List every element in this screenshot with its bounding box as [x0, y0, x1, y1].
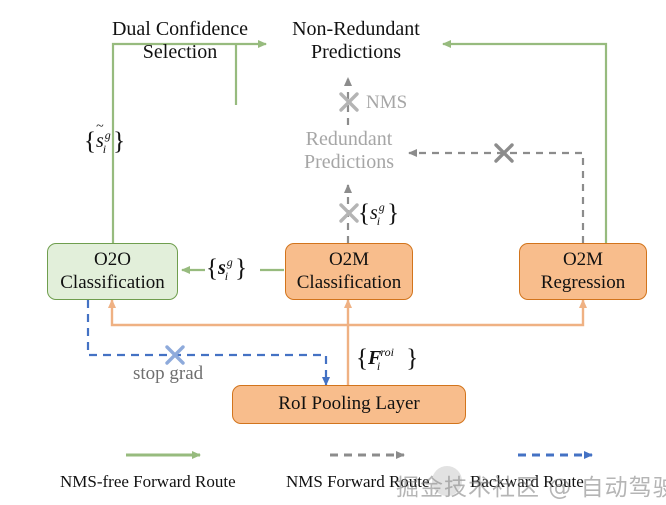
node-line1: O2M [329, 249, 369, 271]
math-sup-g: g [105, 128, 111, 142]
math-s-scores-gray: {sgi} [358, 200, 399, 228]
brace-open: { [206, 255, 218, 282]
label-stop-grad: stop grad [133, 363, 203, 385]
route-regression-to-nonredundant [443, 44, 606, 243]
route-nms-free-left [113, 44, 266, 243]
node-line1: O2M [563, 249, 603, 271]
redundant-line2: Predictions [276, 151, 422, 174]
brace-close: } [387, 200, 399, 227]
node-line2: Classification [60, 272, 164, 294]
node-line2: Classification [297, 272, 401, 294]
non-redundant-line2: Predictions [268, 41, 444, 64]
math-sup-g: g [379, 200, 385, 214]
non-redundant-line1: Non-Redundant [268, 18, 444, 41]
math-sup-g: g [227, 255, 233, 269]
brace-close: } [113, 128, 125, 155]
brace-close: } [235, 255, 247, 282]
route-nms-forward-regression [409, 153, 583, 243]
tilde-accent: ~ [96, 119, 104, 135]
node-o2m-classification[interactable]: O2M Classification [285, 243, 413, 300]
label-dual-confidence-selection: Dual Confidence Selection [95, 18, 265, 64]
math-sub-i: i [225, 269, 228, 283]
math-f-roi-features: {Froii} [356, 345, 418, 373]
legend-label-nms-free-forward-route: NMS-free Forward Route [60, 472, 236, 492]
label-redundant-predictions: Redundant Predictions [276, 128, 422, 174]
node-roi-pooling-layer[interactable]: RoI Pooling Layer [232, 385, 466, 424]
math-sub-i: i [103, 142, 106, 156]
node-o2m-regression[interactable]: O2M Regression [519, 243, 647, 300]
cross-o2m-scores [341, 205, 357, 221]
math-sub-i: i [377, 359, 380, 373]
brace-open: { [358, 200, 370, 227]
brace-close: } [406, 345, 418, 372]
node-line1: O2O [94, 249, 131, 271]
math-s-scores: {sgi} [206, 255, 247, 283]
route-roi-to-o2m-regression [348, 300, 583, 325]
route-roi-to-o2o-classification [112, 300, 348, 325]
node-line1: RoI Pooling Layer [278, 393, 419, 415]
redundant-line1: Redundant [276, 128, 422, 151]
brace-open: { [356, 345, 368, 372]
route-backward-stop-grad [88, 300, 326, 385]
math-sup-roi: roi [380, 345, 394, 359]
node-o2o-classification[interactable]: O2O Classification [47, 243, 178, 300]
label-nms: NMS [366, 92, 407, 114]
dual-confidence-line2: Selection [95, 41, 265, 64]
dual-confidence-line1: Dual Confidence [95, 18, 265, 41]
label-non-redundant-predictions: Non-Redundant Predictions [268, 18, 444, 64]
node-line2: Regression [541, 272, 625, 294]
math-s-tilde-scores: {~sgi} [84, 128, 125, 156]
math-sub-i: i [377, 214, 380, 228]
brace-open: { [84, 128, 96, 155]
diagram-canvas: Dual Confidence Selection Non-Redundant … [0, 0, 666, 505]
watermark-blob [432, 466, 462, 496]
